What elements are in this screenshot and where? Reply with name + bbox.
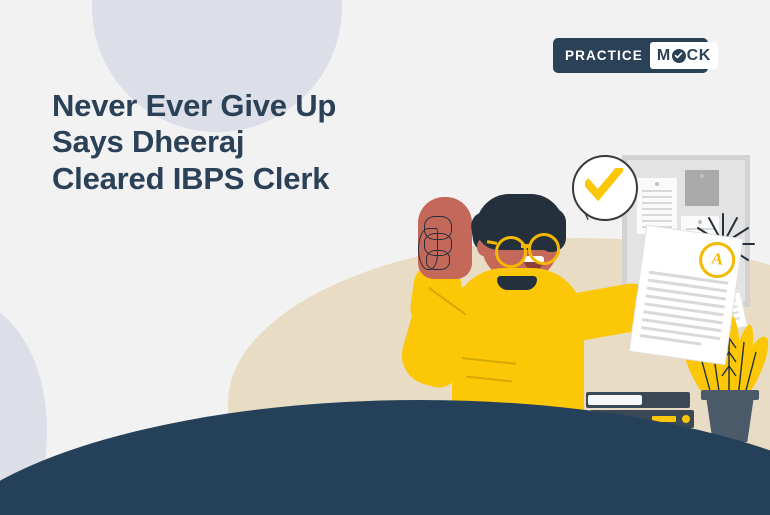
headline-line-2: Says Dheeraj [52, 124, 472, 160]
board-paper-grey [685, 170, 719, 206]
glasses-icon [528, 233, 560, 265]
page-title: Never Ever Give Up Says Dheeraj Cleared … [52, 88, 472, 197]
logo-mock-box: M CK [650, 42, 718, 69]
headline-line-3: Cleared IBPS Clerk [52, 161, 472, 197]
logo-mock-suffix: CK [687, 48, 711, 64]
glasses-icon [495, 236, 527, 268]
book-pages [588, 395, 642, 405]
check-mark-icon [585, 168, 623, 202]
certificate-document: A [630, 226, 743, 364]
logo-mock-prefix: M [657, 48, 671, 64]
fist-thumb [418, 228, 438, 270]
logo-practice-text: PRACTICE [557, 48, 650, 63]
character-collar [497, 276, 537, 290]
glasses-bridge [521, 244, 530, 248]
headline-line-1: Never Ever Give Up [52, 88, 472, 124]
board-paper [637, 178, 677, 234]
practicemock-logo[interactable]: PRACTICE M CK [553, 38, 708, 73]
pin-icon [655, 182, 659, 186]
grade-seal-icon: A [697, 240, 738, 281]
check-circle-icon [672, 49, 686, 63]
book-dot [682, 415, 690, 423]
promo-banner: A Never Ever Give Up Says Dheeraj Cleare… [0, 0, 770, 515]
pin-icon [700, 174, 704, 178]
certificate-grade: A [710, 250, 724, 269]
